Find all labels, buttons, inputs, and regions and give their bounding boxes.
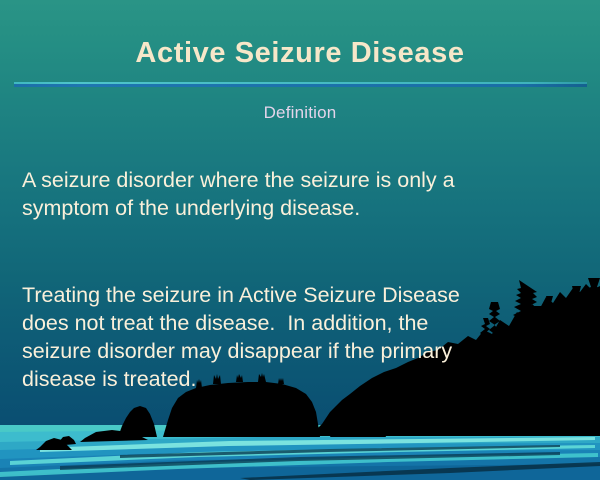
- body-line: A seizure disorder where the seizure is …: [22, 166, 578, 194]
- divider-shadow: [14, 84, 587, 87]
- slide-subtitle: Definition: [0, 103, 600, 123]
- body-line: Treating the seizure in Active Seizure D…: [22, 281, 578, 309]
- body-paragraph-1: A seizure disorder where the seizure is …: [22, 166, 578, 222]
- body-paragraph-2: Treating the seizure in Active Seizure D…: [22, 281, 578, 393]
- body-line: disease is treated.: [22, 365, 578, 393]
- title-divider-rule: [14, 82, 587, 87]
- page-title: Active Seizure Disease: [0, 38, 600, 70]
- body-line: seizure disorder may disappear if the pr…: [22, 337, 578, 365]
- slide-canvas: Active Seizure Disease Definition A seiz…: [0, 0, 600, 480]
- body-line: symptom of the underlying disease.: [22, 194, 578, 222]
- slide-content: Active Seizure Disease Definition A seiz…: [0, 0, 600, 480]
- body-line: does not treat the disease. In addition,…: [22, 309, 578, 337]
